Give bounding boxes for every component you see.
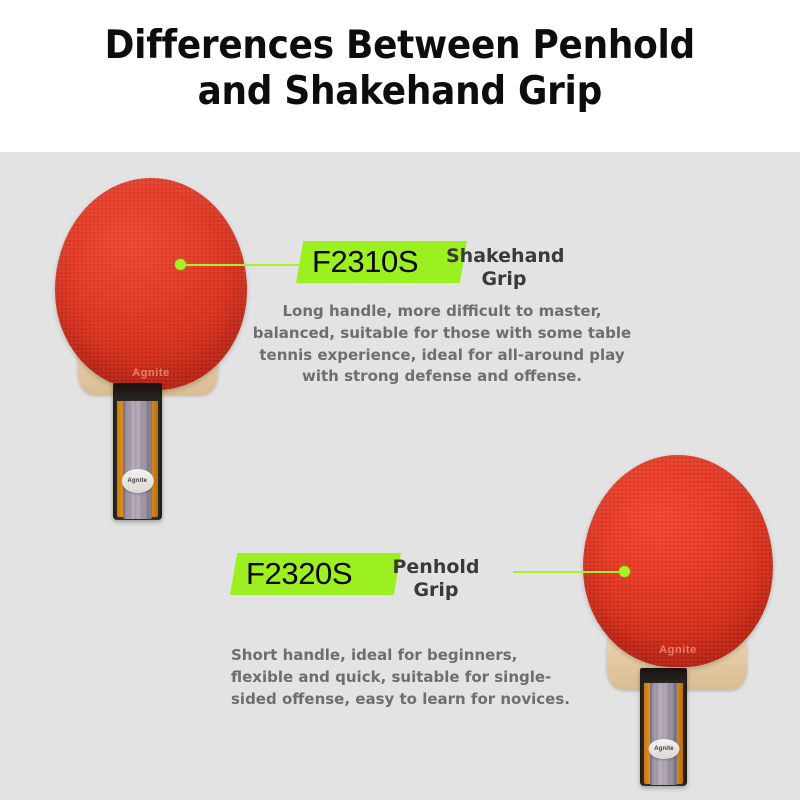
model-badge-shakehand[interactable]: F2310S [296,241,467,283]
handle-penhold: Agnite [640,668,687,786]
title-band: Differences Between Penhold and Shakehan… [0,0,800,152]
infographic-root: Differences Between Penhold and Shakehan… [0,0,800,800]
rubber-brand-label-shakehand: Agnite [55,367,247,379]
callout-dot-penhold [619,566,630,577]
rubber-brand-label-penhold: Agnite [583,644,773,656]
handle-grip-surface-penhold [650,679,677,785]
model-number-penhold: F2320S [246,556,352,592]
callout-line-penhold [513,571,625,573]
handle-shakehand: Agnite [113,383,162,520]
rubber-face-penhold: Agnite [583,455,773,667]
callout-line-shakehand [181,264,316,266]
rubber-face-shakehand: Agnite [55,178,247,390]
model-badge-penhold[interactable]: F2320S [230,553,401,595]
page-title: Differences Between Penhold and Shakehan… [105,23,695,114]
handle-brand-badge-text-penhold: Agnite [654,746,674,752]
handle-top-cap-penhold [641,668,686,683]
model-number-shakehand: F2310S [312,244,418,280]
description-shakehand: Long handle, more difficult to master, b… [241,301,643,388]
description-penhold: Short handle, ideal for beginners, flexi… [231,645,571,710]
grip-name-penhold: Penhold Grip [386,556,486,602]
callout-dot-shakehand [175,259,186,270]
handle-brand-badge-text-shakehand: Agnite [128,478,148,484]
handle-brand-badge-penhold: Agnite [648,739,679,759]
handle-top-cap-shakehand [114,383,161,401]
handle-grip-surface-shakehand [123,395,151,518]
grip-name-shakehand: Shakehand Grip [446,245,562,291]
